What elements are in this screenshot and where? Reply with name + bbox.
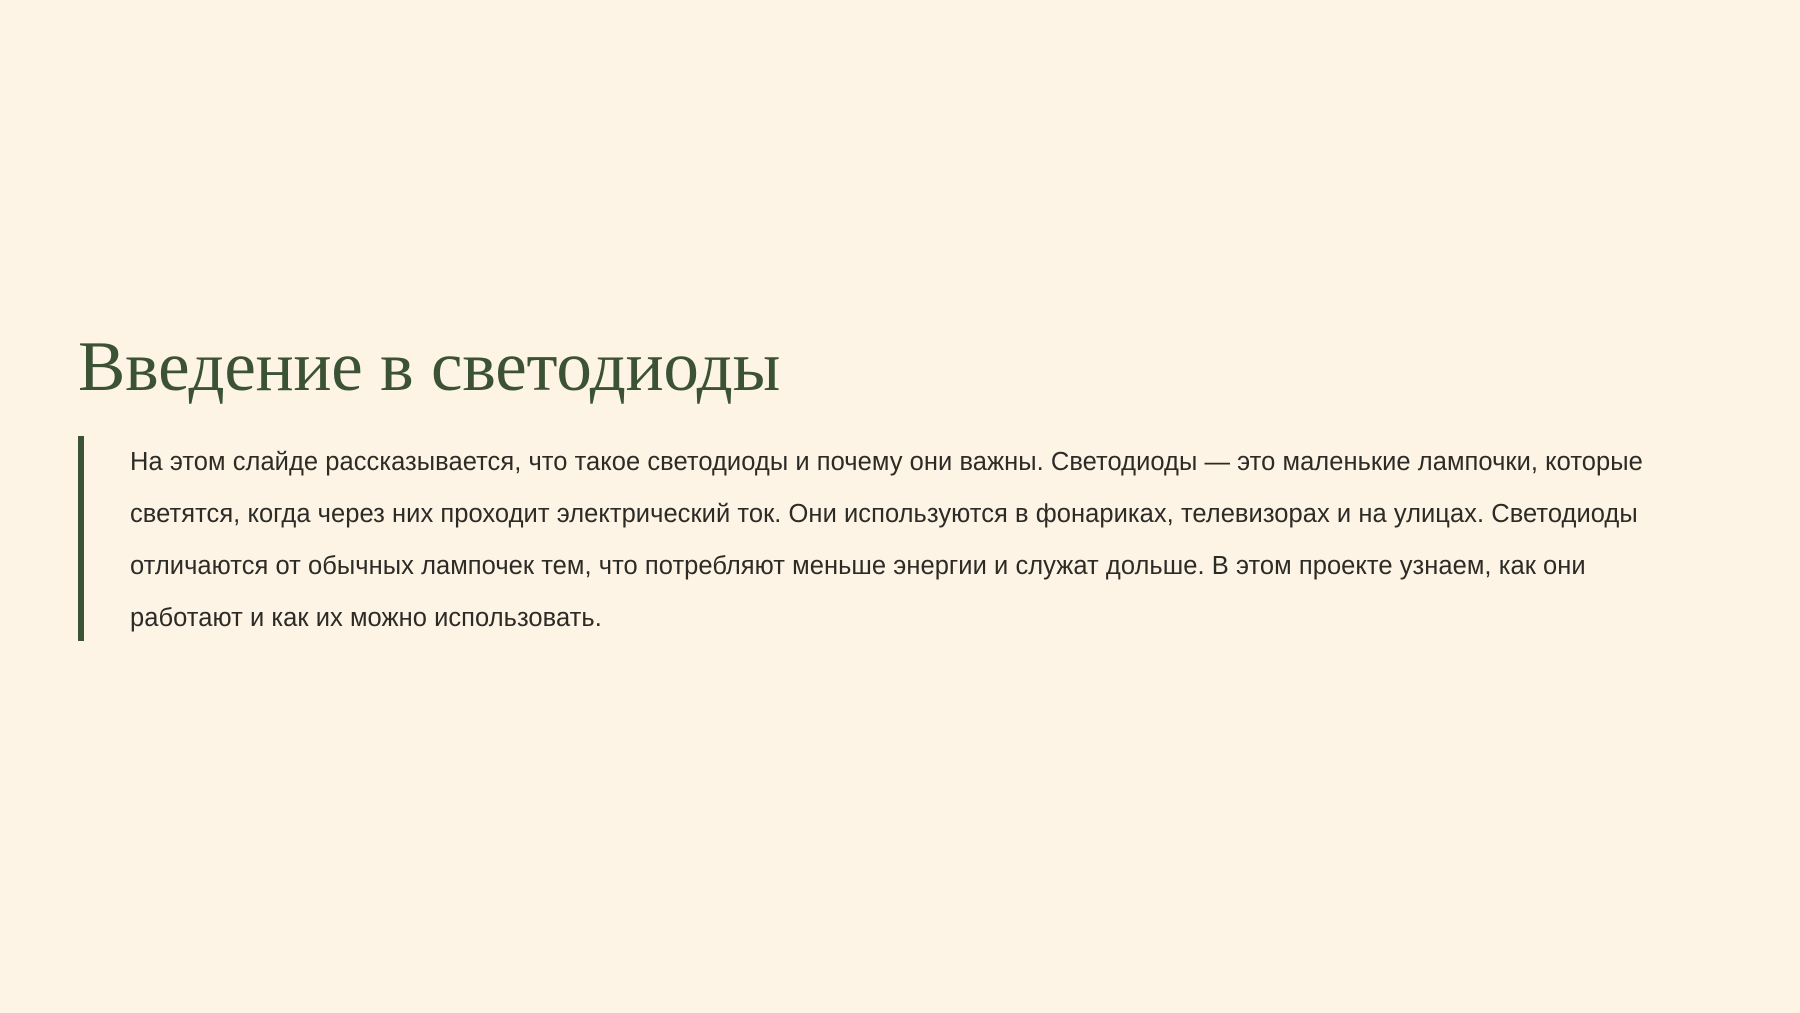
accent-bar	[78, 436, 84, 641]
page-title: Введение в светодиоды	[78, 330, 1698, 405]
body-block: На этом слайде рассказывается, что такое…	[78, 436, 1698, 644]
body-paragraph: На этом слайде рассказывается, что такое…	[130, 436, 1665, 644]
slide-canvas: Введение в светодиоды На этом слайде рас…	[0, 0, 1800, 1013]
slide-content: Введение в светодиоды На этом слайде рас…	[78, 330, 1698, 644]
